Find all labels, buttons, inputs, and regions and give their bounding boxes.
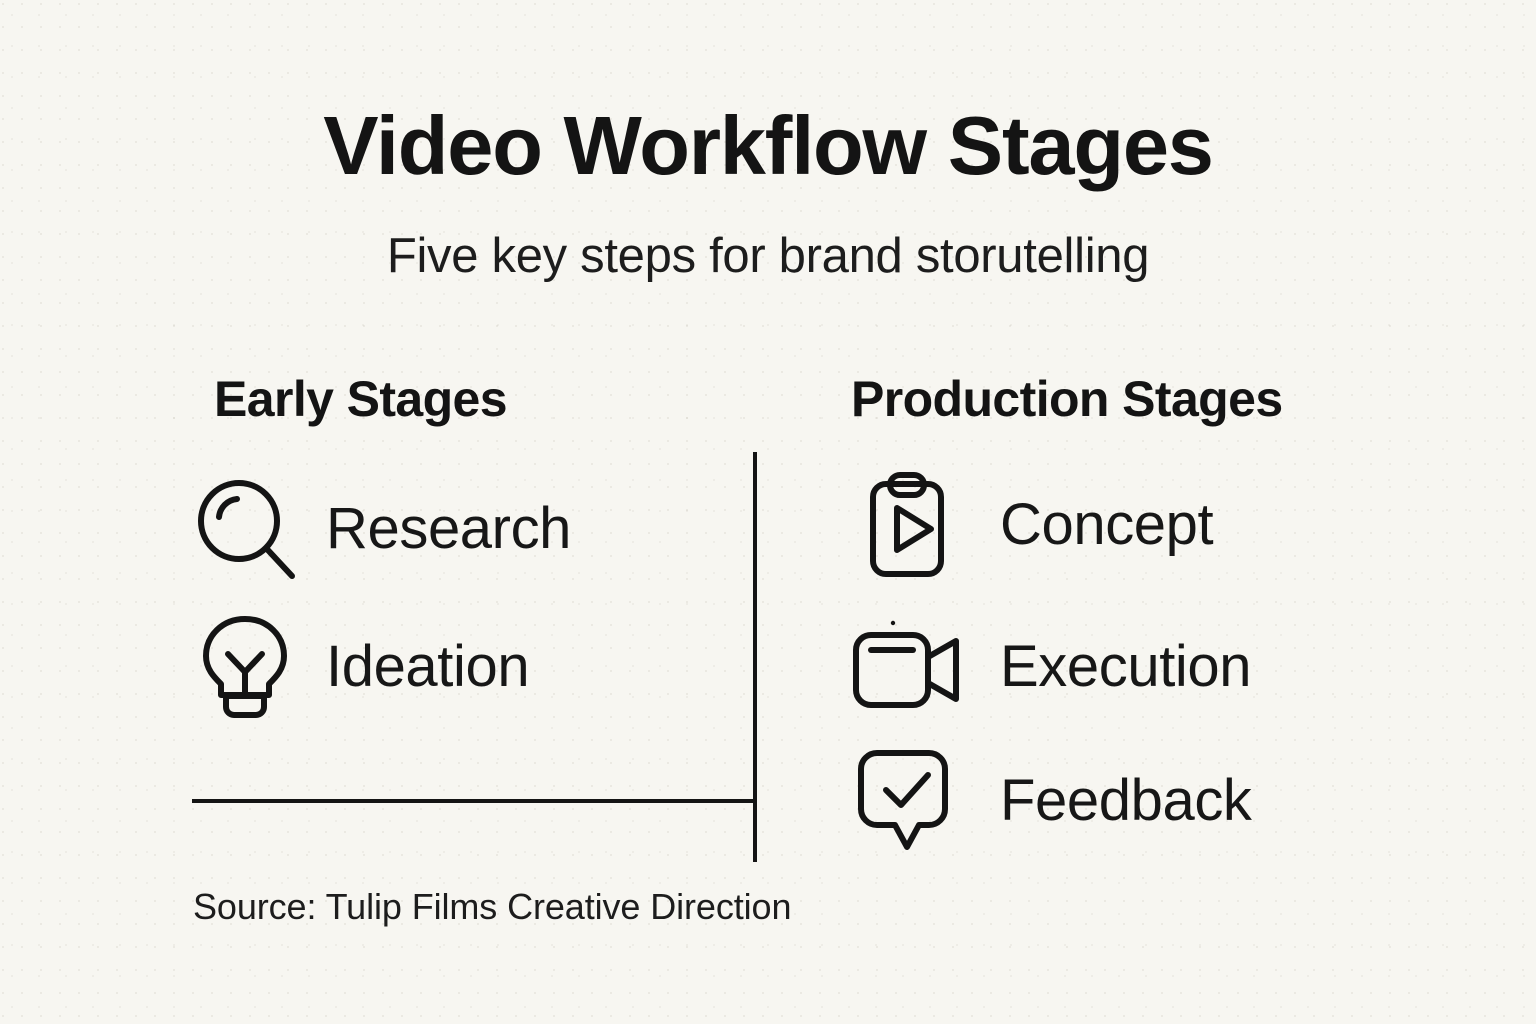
stage-label-execution: Execution: [1000, 638, 1251, 696]
list-item: Concept: [852, 470, 1213, 580]
list-item: Execution: [852, 612, 1251, 722]
page-title: Video Workflow Stages: [0, 104, 1536, 187]
list-item: Research: [190, 474, 571, 584]
column-heading-production-stages: Production Stages: [851, 374, 1283, 424]
stage-label-ideation: Ideation: [326, 638, 529, 696]
lightbulb-icon: [190, 612, 300, 722]
page-subtitle: Five key steps for brand storutelling: [0, 232, 1536, 281]
speech-bubble-check-icon: [852, 746, 962, 856]
source-attribution: Source: Tulip Films Creative Direction: [193, 889, 791, 925]
video-camera-icon: [852, 612, 962, 722]
infographic-canvas: Video Workflow Stages Five key steps for…: [0, 0, 1536, 1024]
stage-label-concept: Concept: [1000, 496, 1213, 554]
stage-label-research: Research: [326, 500, 571, 558]
stage-label-feedback: Feedback: [1000, 772, 1252, 830]
column-heading-early-stages: Early Stages: [214, 374, 507, 424]
list-item: Feedback: [852, 746, 1252, 856]
list-item: Ideation: [190, 612, 529, 722]
horizontal-divider: [192, 799, 757, 803]
magnifier-icon: [190, 474, 300, 584]
clipboard-play-icon: [852, 470, 962, 580]
